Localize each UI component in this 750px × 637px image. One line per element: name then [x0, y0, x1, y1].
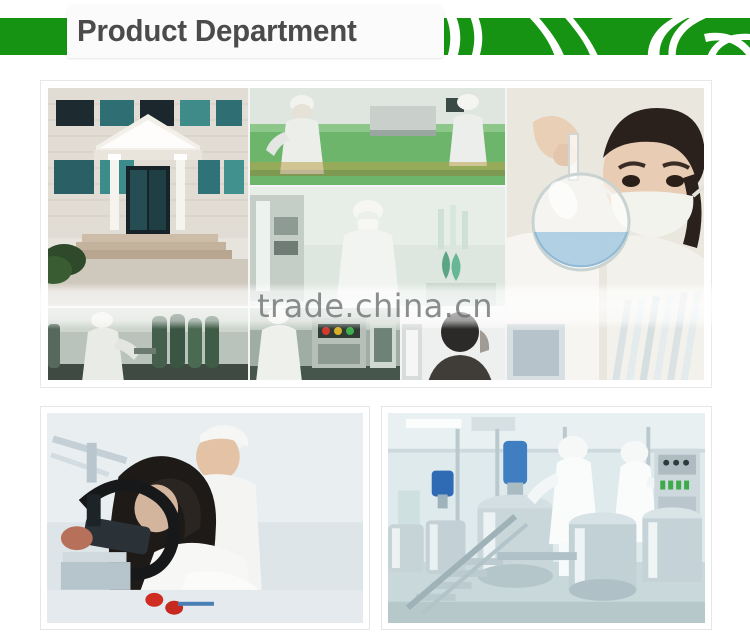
- page-title: Product Department: [77, 7, 419, 55]
- photo-microscope-lab-image: [47, 413, 363, 623]
- collage-cell-factory-building-exterior: [48, 88, 248, 306]
- collage-cell-cleanroom-technician-equipment: [250, 187, 505, 306]
- page-header: Product Department: [0, 0, 750, 72]
- collage-grid: [48, 88, 704, 380]
- photo-bioreactor-tanks-image: [388, 413, 705, 623]
- collage-cell-packaging-line-control-panel: [250, 308, 400, 380]
- photo-microscope-lab: [40, 406, 370, 630]
- photo-bioreactor-tanks: [381, 406, 712, 630]
- page-title-plate: Product Department: [67, 4, 444, 58]
- collage-cell-cleanroom-workers-green-floor: [250, 88, 505, 185]
- collage-cell-lab-gas-cylinders: [48, 308, 248, 380]
- image-collage-top: [40, 80, 712, 388]
- collage-cell-worker-dark-portrait: [402, 308, 505, 380]
- collage-cell-scientist-with-round-flask: [507, 88, 704, 380]
